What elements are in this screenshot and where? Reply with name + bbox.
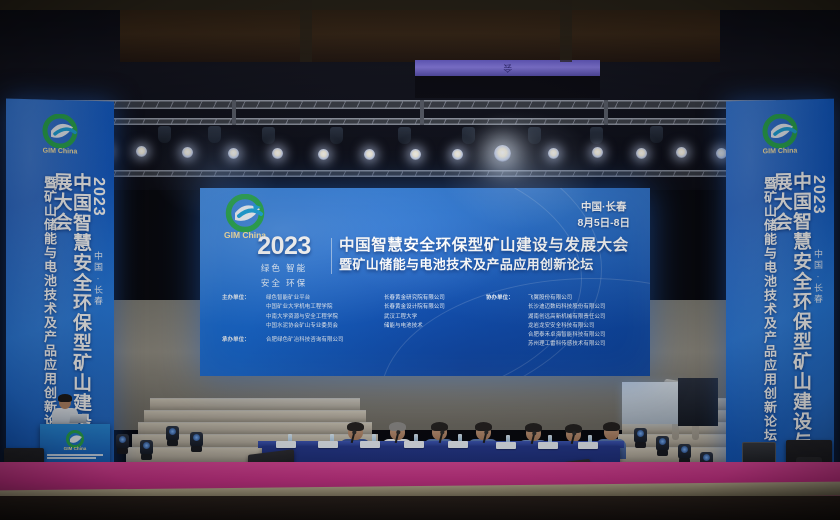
- hair: [603, 422, 620, 431]
- upper-wall-shadow: [415, 76, 600, 98]
- gim-logo-icon: GIM China: [60, 430, 90, 452]
- svg-text:GIM China: GIM China: [64, 446, 87, 451]
- cohost-item: 合肥泰禾卓海智能科技有限公司: [528, 331, 650, 340]
- moving-head-floor-light: [116, 434, 129, 454]
- moving-head-floor-light: [140, 440, 153, 460]
- screen-title-block: 中国智慧安全环保型矿山建设与发展大会 暨矿山储能与电池技术及产品应用创新论坛: [339, 236, 639, 274]
- moving-head-light: [158, 126, 171, 143]
- ceiling-led-strip: 2023中国智慧安全环保型矿山建设与发展大会: [415, 60, 600, 76]
- screen-year-block: 2023 绿色 智能 安全 环保: [242, 234, 326, 290]
- host-col2-item: 长春黄金研究院有限公司: [384, 294, 502, 303]
- screen-credits: 主办单位： 绿色智能矿业平台 长春黄金研究院有限公司 中国矿业大学机电工程学院 …: [222, 294, 634, 345]
- stage-light: [410, 149, 421, 160]
- moving-head-floor-light: [166, 426, 179, 446]
- moving-head-light: [208, 126, 221, 143]
- stage-light: [676, 147, 687, 158]
- name-placard: [448, 441, 468, 448]
- ceiling-beam: [560, 0, 572, 62]
- screen-dates: 8月5日-8日: [577, 216, 630, 232]
- moving-head-light: [398, 127, 411, 144]
- panelist-head: [604, 424, 619, 440]
- screen-year: 2023: [242, 234, 326, 259]
- left-banner-city: 中国·长春: [92, 251, 105, 307]
- lighting-truss-lower: [30, 170, 810, 177]
- stage-light: [592, 147, 603, 158]
- host-col2-item: 储能与电池技术: [384, 322, 502, 331]
- host-label: 主办单位：: [222, 294, 266, 303]
- host-col1-item: 中南大学资源与安全工程学院: [266, 313, 384, 322]
- name-placard: [496, 442, 516, 449]
- cohost-item: 长沙迪迈数码科技股份有限公司: [528, 303, 650, 312]
- name-placard: [538, 442, 558, 449]
- host-col1-item: 中国矿业大学机电工程学院: [266, 303, 384, 312]
- screen-slogan-line2: 安全 环保: [242, 277, 326, 289]
- hair: [475, 422, 492, 431]
- name-placard: [276, 441, 296, 448]
- stage-light-hero: [494, 145, 511, 162]
- stage-light: [318, 149, 329, 160]
- moving-head-light: [462, 127, 475, 144]
- gim-logo-icon: GIM China: [31, 113, 89, 157]
- truss-leg: [420, 100, 424, 125]
- podium-text-lines: [47, 454, 103, 460]
- moving-head-floor-light: [190, 432, 203, 452]
- svg-text:GIM China: GIM China: [763, 148, 798, 156]
- cohost-item: 飞翼股份有限公司: [528, 294, 650, 303]
- screen-slogan-line1: 绿色 智能: [242, 262, 326, 274]
- right-banner-title-sub: 暨矿山储能与电池技术及产品应用创新论坛: [763, 176, 776, 442]
- hair: [431, 422, 448, 431]
- name-placard: [360, 441, 380, 448]
- stage-light: [452, 149, 463, 160]
- moving-head-light: [262, 127, 275, 144]
- left-banner-year: 2023: [89, 177, 107, 217]
- ceiling-beam: [300, 0, 312, 62]
- screen-title-main: 中国智慧安全环保型矿山建设与发展大会: [339, 236, 639, 255]
- name-placard: [578, 442, 598, 449]
- right-banner-year: 2023: [809, 175, 827, 215]
- host-col1-item: 绿色智能矿业平台: [266, 294, 384, 303]
- gim-logo-icon: GIM China: [751, 113, 809, 156]
- truss-leg: [604, 100, 608, 125]
- stage-light: [636, 148, 647, 159]
- screen-location: 中国·长春: [577, 200, 630, 216]
- backstage-panel: [678, 378, 718, 426]
- cohost-label: 协办单位：: [486, 294, 528, 350]
- main-led-screen: GIM China 中国·长春 8月5日-8日 2023 绿色 智能 安全 环保…: [200, 188, 650, 376]
- svg-text:GIM China: GIM China: [43, 148, 78, 156]
- ceiling-beam: [0, 0, 840, 10]
- conference-stage-photo: 2023中国智慧安全环保型矿山建设与发展大会: [0, 0, 840, 520]
- stage-light: [136, 146, 147, 157]
- moving-head-light: [528, 127, 541, 144]
- stage-light: [364, 149, 375, 160]
- moving-head-floor-light: [656, 436, 669, 456]
- moving-head-light: [590, 127, 603, 144]
- moving-head-light: [330, 127, 343, 144]
- ceiling-led-strip-text: 2023中国智慧安全环保型矿山建设与发展大会: [415, 60, 600, 76]
- screen-divider: [331, 238, 332, 274]
- audience-floor: [0, 496, 840, 520]
- name-placard: [404, 441, 424, 448]
- stage-light: [228, 148, 239, 159]
- screen-date-block: 中国·长春 8月5日-8日: [577, 200, 630, 232]
- cohost-item: 龙岩龙安安全科技有限公司: [528, 322, 650, 331]
- organizer-label: 承办单位：: [222, 336, 266, 345]
- right-banner-city: 中国·长春: [812, 249, 825, 305]
- screen-title-sub: 暨矿山储能与电池技术及产品应用创新论坛: [339, 257, 639, 274]
- moving-head-floor-light: [678, 444, 691, 464]
- stage-light: [272, 148, 283, 159]
- speaker-head: [59, 396, 71, 409]
- moving-head-floor-light: [634, 428, 647, 448]
- moving-head-light: [650, 126, 663, 143]
- cohost-block: 协办单位： 飞翼股份有限公司 长沙迪迈数码科技股份有限公司 湖南创远高新机械有限…: [486, 294, 650, 350]
- host-col1-item: 中国水泥协会矿山专业委员会: [266, 322, 384, 331]
- cohost-item: 苏州理工雷科传感技术有限公司: [528, 340, 650, 349]
- stage-light: [548, 148, 559, 159]
- truss-leg: [232, 100, 236, 125]
- stage-light: [182, 147, 193, 158]
- host-col2-item: 长春黄金设计院有限公司: [384, 303, 502, 312]
- podium-laptop: [69, 414, 87, 423]
- side-display-screen: [622, 382, 684, 424]
- cohost-item: 湖南创远高新机械有限责任公司: [528, 313, 650, 322]
- name-placard: [318, 441, 338, 448]
- host-col2-item: 武汉工程大学: [384, 313, 502, 322]
